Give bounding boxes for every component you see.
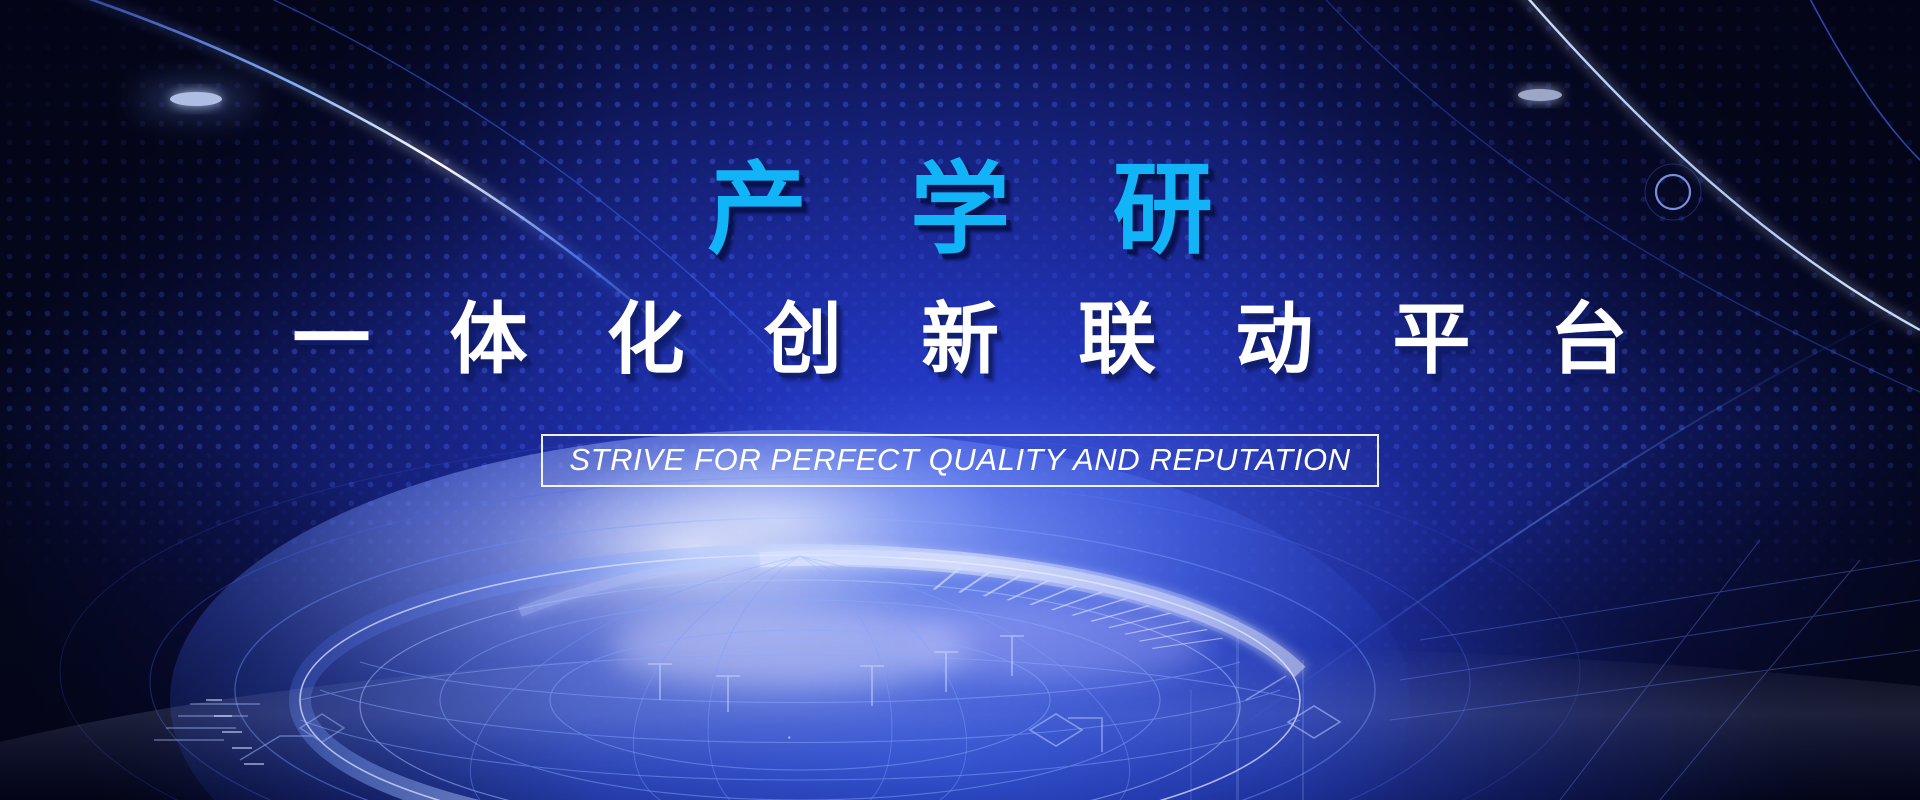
subtitle-english: STRIVE FOR PERFECT QUALITY AND REPUTATIO… — [569, 444, 1350, 475]
subtitle-container: STRIVE FOR PERFECT QUALITY AND REPUTATIO… — [0, 434, 1920, 487]
headline-secondary: 一 体 化 创 新 联 动 平 台 — [0, 296, 1920, 386]
banner-content: 产 学 研 一 体 化 创 新 联 动 平 台 STRIVE FOR PERFE… — [0, 0, 1920, 800]
headline-primary: 产 学 研 — [0, 152, 1920, 267]
banner-root: 产 学 研 一 体 化 创 新 联 动 平 台 STRIVE FOR PERFE… — [0, 0, 1920, 800]
subtitle-box: STRIVE FOR PERFECT QUALITY AND REPUTATIO… — [541, 434, 1378, 487]
